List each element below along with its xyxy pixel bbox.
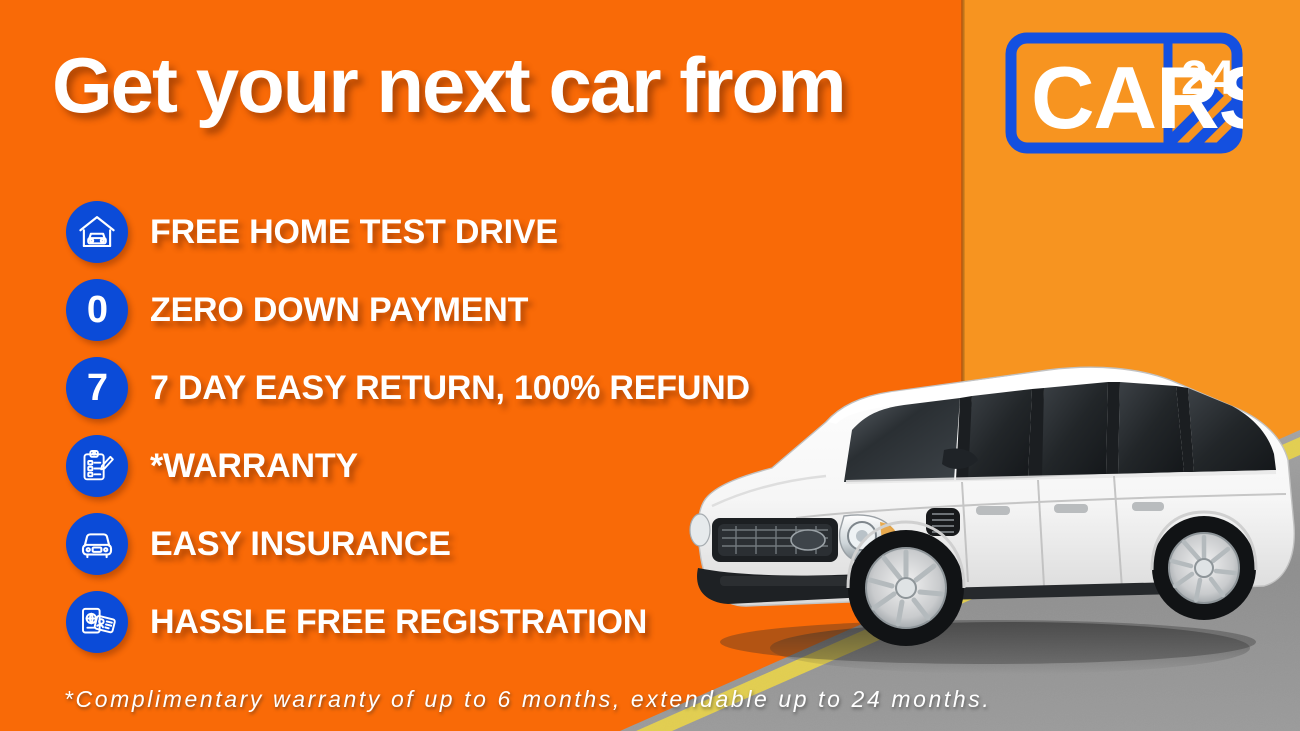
- clipboard-pen-icon: [66, 435, 128, 497]
- seven-badge-icon: 7: [66, 357, 128, 419]
- feature-item-warranty: *WARRANTY: [66, 427, 750, 505]
- feature-item-seven-day-return: 7 7 DAY EASY RETURN, 100% REFUND: [66, 349, 750, 427]
- page-title: Get your next car from: [52, 46, 845, 126]
- front-wheel: [848, 530, 964, 646]
- home-garage-car-icon: [66, 201, 128, 263]
- feature-label: ZERO DOWN PAYMENT: [150, 291, 528, 330]
- feature-item-hassle-free-registration: HASSLE FREE REGISTRATION: [66, 583, 750, 661]
- feature-label: 7 DAY EASY RETURN, 100% REFUND: [150, 369, 750, 408]
- rear-wheel: [1152, 516, 1256, 620]
- feature-label: EASY INSURANCE: [150, 525, 451, 564]
- feature-list: FREE HOME TEST DRIVE 0 ZERO DOWN PAYMENT…: [66, 193, 750, 661]
- cars24-badge-number: 24: [1181, 52, 1235, 105]
- cars24-promo-banner: Get your next car from CARS: [0, 0, 1300, 731]
- disclaimer-text: *Complimentary warranty of up to 6 month…: [64, 686, 991, 713]
- white-suv-photo: [676, 330, 1300, 670]
- feature-item-free-home-test-drive: FREE HOME TEST DRIVE: [66, 193, 750, 271]
- zero-badge-icon: 0: [66, 279, 128, 341]
- feature-item-zero-down-payment: 0 ZERO DOWN PAYMENT: [66, 271, 750, 349]
- feature-label: HASSLE FREE REGISTRATION: [150, 603, 647, 642]
- cars24-logo-icon: CARS 24: [1005, 32, 1243, 154]
- feature-label: FREE HOME TEST DRIVE: [150, 213, 558, 252]
- zero-badge-number: 0: [87, 291, 107, 329]
- cars24-logo[interactable]: CARS 24: [1005, 32, 1243, 154]
- car-front-icon: [66, 513, 128, 575]
- seven-badge-number: 7: [87, 369, 107, 407]
- feature-item-easy-insurance: EASY INSURANCE: [66, 505, 750, 583]
- passport-id-card-icon: [66, 591, 128, 653]
- feature-label: *WARRANTY: [150, 447, 358, 486]
